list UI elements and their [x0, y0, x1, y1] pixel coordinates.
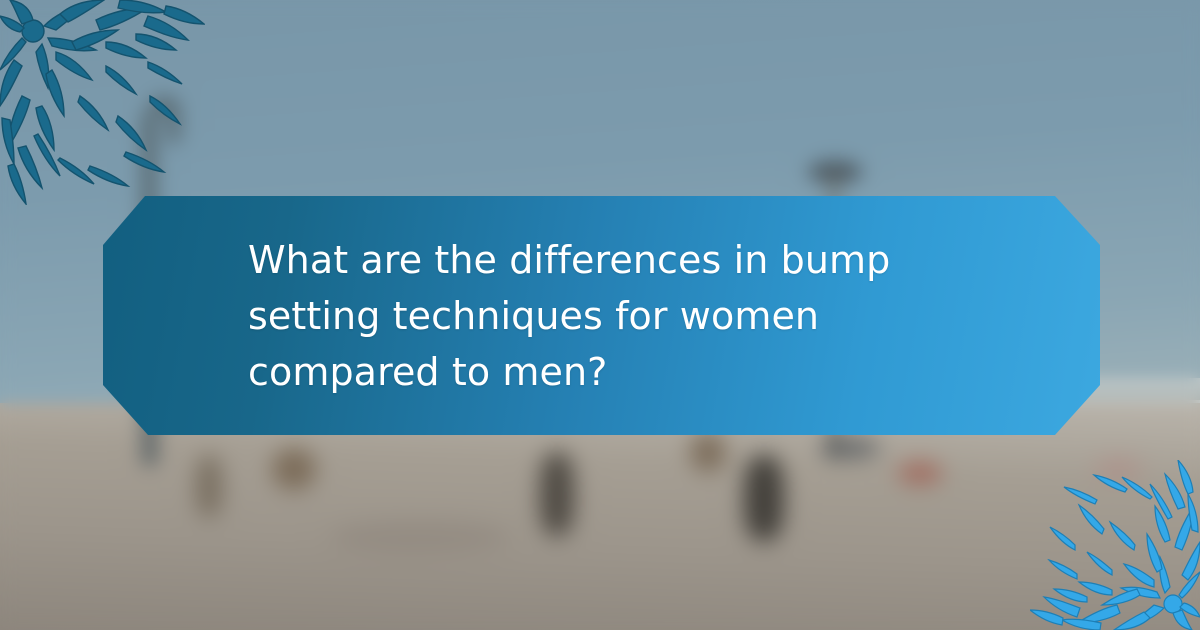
silhouette-object-red [898, 462, 942, 484]
silhouette-person-2 [540, 452, 574, 536]
silhouette-object-pink [1094, 458, 1142, 480]
question-banner: What are the differences in bump setting… [103, 196, 1100, 435]
silhouette-person-1 [272, 448, 316, 490]
silhouette-object-dark [820, 438, 880, 458]
question-title: What are the differences in bump setting… [248, 232, 968, 400]
silhouette-person-5 [196, 455, 222, 517]
silhouette-person-3 [744, 455, 784, 541]
share-card-canvas: What are the differences in bump setting… [0, 0, 1200, 630]
silhouette-person-4 [690, 432, 726, 472]
silhouette-shadow-center [330, 520, 510, 554]
